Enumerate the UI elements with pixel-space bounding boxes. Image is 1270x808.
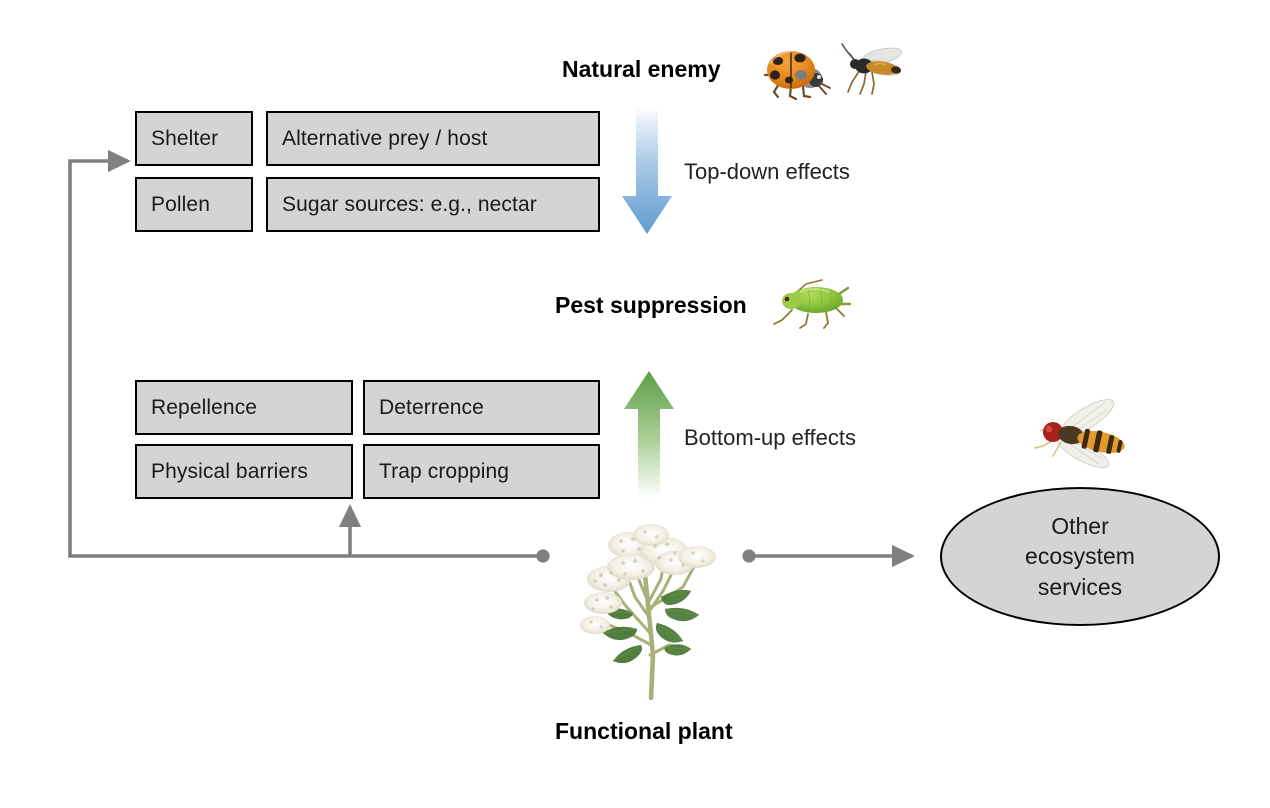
resource-box-alternative-prey[interactable]: Alternative prey / host (266, 111, 600, 166)
resource-box-pollen[interactable]: Pollen (135, 177, 253, 232)
resource-box-shelter-label: Shelter (137, 128, 218, 149)
mechanism-box-deterrence[interactable]: Deterrence (363, 380, 600, 435)
mechanism-box-repellence-label: Repellence (137, 397, 257, 418)
resource-box-pollen-label: Pollen (137, 194, 210, 215)
label-functional-plant: Functional plant (555, 720, 733, 743)
other-ecosystem-services-node[interactable]: Other ecosystem services (940, 487, 1220, 626)
diagram-canvas: Shelter Alternative prey / host Pollen S… (0, 0, 1270, 808)
ellipse-line-2: ecosystem (1025, 541, 1135, 571)
top-down-arrow (622, 107, 672, 234)
other-ecosystem-services-text: Other ecosystem services (1025, 511, 1135, 602)
bottom-up-arrow (624, 371, 674, 498)
mechanism-box-trap-cropping[interactable]: Trap cropping (363, 444, 600, 499)
label-bottom-up-effects: Bottom-up effects (684, 427, 856, 449)
hoverfly-icon (1025, 398, 1135, 476)
ellipse-line-3: services (1025, 572, 1135, 602)
mechanism-box-trap-cropping-label: Trap cropping (365, 461, 509, 482)
label-natural-enemy: Natural enemy (562, 58, 721, 81)
label-top-down-effects: Top-down effects (684, 161, 850, 183)
resource-box-alternative-prey-label: Alternative prey / host (268, 128, 487, 149)
mechanism-box-physical-barriers-label: Physical barriers (137, 461, 308, 482)
mechanism-box-deterrence-label: Deterrence (365, 397, 484, 418)
resource-box-shelter[interactable]: Shelter (135, 111, 253, 166)
ladybird-beetle-icon (760, 42, 832, 104)
ellipse-line-1: Other (1025, 511, 1135, 541)
resource-box-sugar-sources[interactable]: Sugar sources: e.g., nectar (266, 177, 600, 232)
aphid-icon (770, 278, 858, 330)
parasitoid-wasp-icon (838, 42, 904, 100)
umbellifer-plant-icon (565, 505, 745, 700)
resource-box-sugar-sources-label: Sugar sources: e.g., nectar (268, 194, 537, 215)
mechanism-box-repellence[interactable]: Repellence (135, 380, 353, 435)
label-pest-suppression: Pest suppression (555, 294, 747, 317)
mechanism-box-physical-barriers[interactable]: Physical barriers (135, 444, 353, 499)
